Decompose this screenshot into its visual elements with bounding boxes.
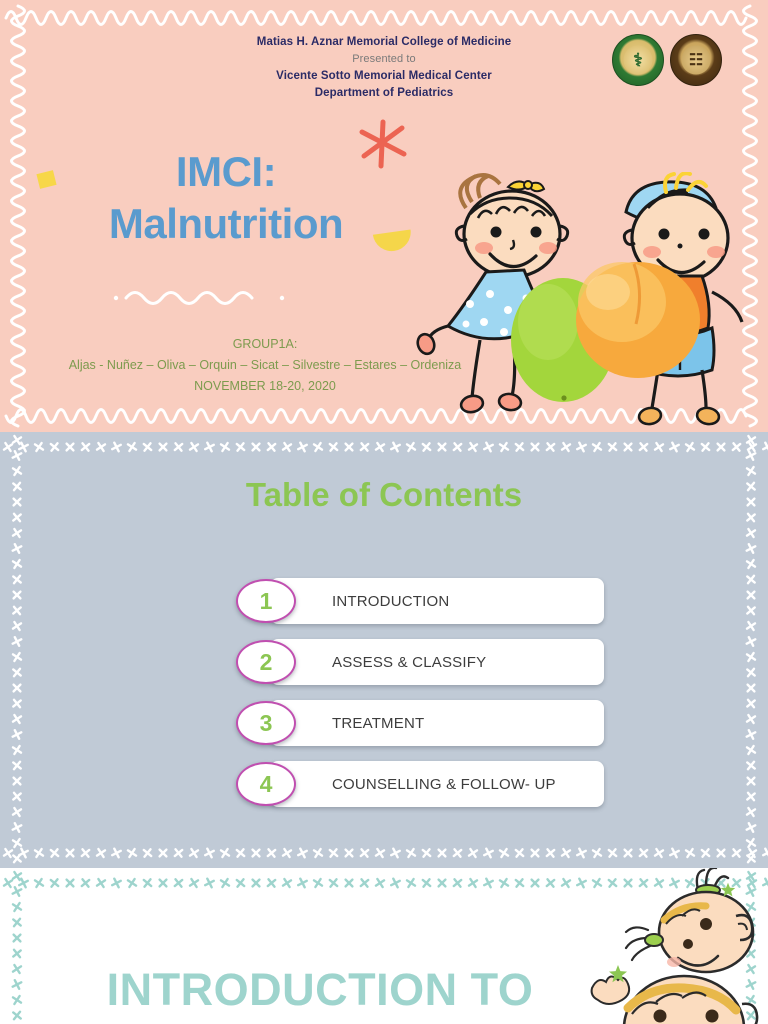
credits-block: GROUP1A: Aljas - Nuñez – Oliva – Orquin … bbox=[0, 334, 530, 397]
title-line-1: IMCI: bbox=[0, 146, 452, 198]
slide-title: Matias H. Aznar Memorial College of Medi… bbox=[0, 0, 768, 432]
toc-item-label: TREATMENT bbox=[332, 715, 424, 732]
toc-pill[interactable]: COUNSELLING & FOLLOW- UP bbox=[270, 761, 604, 807]
vicente-sotto-medical-center-seal-icon: ☷ bbox=[670, 34, 722, 86]
building-icon: ☷ bbox=[671, 35, 721, 85]
toc-number-badge: 1 bbox=[236, 579, 296, 623]
toc-pill[interactable]: TREATMENT bbox=[270, 700, 604, 746]
toc-number-badge: 4 bbox=[236, 762, 296, 806]
toc-item-assess-classify[interactable]: ASSESS & CLASSIFY 2 bbox=[236, 639, 604, 685]
toc-number: 3 bbox=[260, 712, 273, 735]
introduction-heading: INTRODUCTION TO bbox=[0, 964, 640, 1016]
x-pattern-border-top-icon bbox=[0, 440, 768, 454]
matias-aznar-college-seal-icon: ⚕ bbox=[612, 34, 664, 86]
toc-item-counselling-followup[interactable]: COUNSELLING & FOLLOW- UP 4 bbox=[236, 761, 604, 807]
presentation-dates: NOVEMBER 18-20, 2020 bbox=[0, 376, 530, 397]
page-title: IMCI: Malnutrition bbox=[0, 146, 452, 250]
toc-number: 4 bbox=[260, 773, 273, 796]
wavy-divider-icon bbox=[112, 286, 288, 308]
toc-item-label: ASSESS & CLASSIFY bbox=[332, 654, 486, 671]
table-of-contents-list: INTRODUCTION 1 ASSESS & CLASSIFY 2 TREAT… bbox=[236, 578, 604, 822]
toc-number-badge: 2 bbox=[236, 640, 296, 684]
slide-introduction: INTRODUCTION TO bbox=[0, 868, 768, 1024]
doodle-border-top-icon bbox=[0, 2, 768, 28]
caduceus-icon: ⚕ bbox=[613, 35, 663, 85]
slide-table-of-contents: Table of Contents INTRODUCTION 1 ASSESS … bbox=[0, 432, 768, 868]
group-members: Aljas - Nuñez – Oliva – Orquin – Sicat –… bbox=[0, 355, 530, 376]
toc-item-treatment[interactable]: TREATMENT 3 bbox=[236, 700, 604, 746]
table-of-contents-heading: Table of Contents bbox=[0, 476, 768, 514]
green-star-icon bbox=[720, 882, 736, 898]
toc-item-label: INTRODUCTION bbox=[332, 593, 449, 610]
toc-pill[interactable]: INTRODUCTION bbox=[270, 578, 604, 624]
title-line-2: Malnutrition bbox=[0, 198, 452, 250]
toc-item-label: COUNSELLING & FOLLOW- UP bbox=[332, 776, 556, 793]
presentation-page: Matias H. Aznar Memorial College of Medi… bbox=[0, 0, 768, 1024]
toc-item-introduction[interactable]: INTRODUCTION 1 bbox=[236, 578, 604, 624]
institution-seals: ⚕ ☷ bbox=[612, 34, 722, 86]
x-pattern-border-bottom-icon bbox=[0, 846, 768, 860]
toc-number: 2 bbox=[260, 651, 273, 674]
department-name: Department of Pediatrics bbox=[0, 85, 768, 102]
toc-number: 1 bbox=[260, 590, 273, 613]
group-label: GROUP1A: bbox=[0, 334, 530, 355]
toc-pill[interactable]: ASSESS & CLASSIFY bbox=[270, 639, 604, 685]
toc-number-badge: 3 bbox=[236, 701, 296, 745]
